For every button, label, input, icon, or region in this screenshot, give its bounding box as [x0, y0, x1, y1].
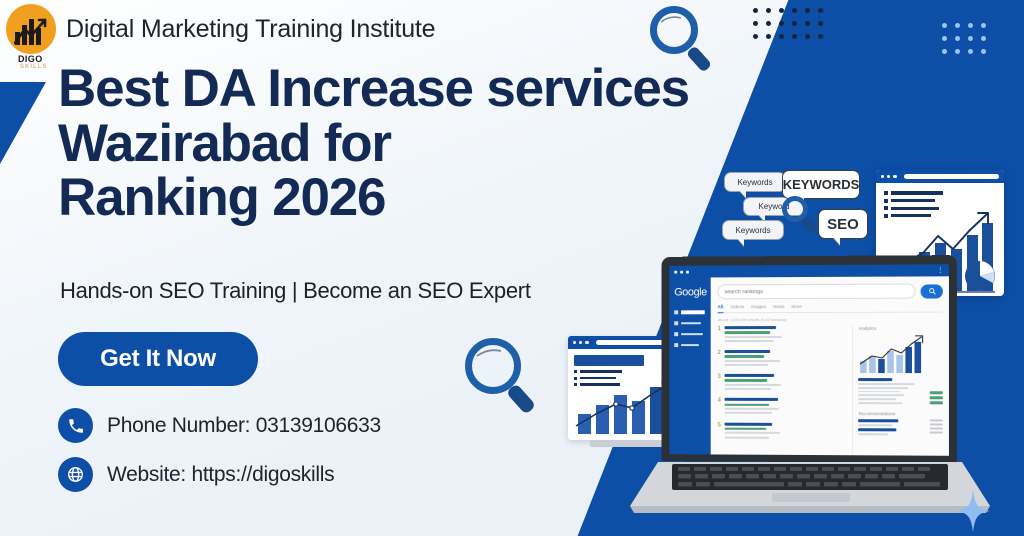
list-item[interactable]: 3: [718, 374, 847, 392]
browser-window-icon: [876, 170, 1004, 183]
tab-more[interactable]: More: [791, 304, 801, 309]
trend-arrow-icon: [14, 16, 48, 46]
magnifying-glass-icon: [465, 338, 553, 422]
keyword-bubble-large: KEYWORDS: [782, 170, 860, 199]
bar-chart-logo-icon: [14, 15, 48, 45]
tab-videos[interactable]: Videos: [730, 304, 744, 309]
analytics-panel: Analytics: [853, 326, 943, 456]
phone-icon: [58, 408, 93, 443]
brand-logo: DIGO SKILLS: [6, 4, 56, 54]
dot-grid-light: [942, 23, 986, 54]
search-tabs: All Videos Images News More: [718, 304, 943, 314]
monitor-title-bar: [574, 355, 644, 366]
contact-phone[interactable]: Phone Number: 03139106633: [58, 408, 381, 443]
search-results-area: search rankings All Videos Images: [711, 276, 949, 455]
phone-number-text: Phone Number: 03139106633: [107, 414, 381, 438]
list-item[interactable]: 4: [718, 398, 847, 416]
pie-chart-icon: [960, 256, 1000, 296]
headline-line-1: Best DA Increase services: [58, 62, 689, 117]
tab-news[interactable]: News: [773, 304, 784, 309]
list-item[interactable]: 2: [718, 350, 847, 368]
contact-website[interactable]: Website: https://digoskills: [58, 457, 334, 492]
results-meta: About 1,240,000 results (0.42 seconds): [718, 317, 943, 323]
dot-grid-dark: [753, 8, 823, 39]
bar-chart-icon: [859, 334, 928, 374]
magnifying-glass-icon: [782, 196, 824, 236]
analytics-panel-title: Analytics: [859, 326, 943, 331]
laptop-base: [630, 462, 990, 514]
page-title: Best DA Increase services Wazirabad for …: [58, 62, 689, 226]
sidebar-item-0[interactable]: [674, 310, 706, 314]
result-number: 4: [718, 398, 721, 416]
list-item[interactable]: 1: [718, 326, 847, 344]
brand-name: Digital Marketing Training Institute: [66, 15, 435, 44]
laptop-screen: ⋮ Google search rankings: [669, 264, 949, 456]
sidebar-item-2[interactable]: [674, 332, 706, 336]
sidebar-item-1[interactable]: [674, 321, 706, 325]
marketing-banner: DIGO SKILLS Digital Marketing Training I…: [0, 0, 1024, 536]
sparkle-icon: [955, 489, 991, 533]
headline-line-3: Ranking 2026: [58, 171, 689, 226]
recommendations-title: Recommendations: [859, 411, 943, 416]
monitor-stand: [590, 440, 664, 447]
globe-icon: [58, 457, 93, 492]
website-url-text: Website: https://digoskills: [107, 463, 334, 487]
headline-line-2: Wazirabad for: [58, 117, 689, 172]
get-it-now-button[interactable]: Get It Now: [58, 332, 258, 386]
search-row: search rankings: [718, 283, 943, 299]
list-item[interactable]: 5: [718, 422, 847, 441]
logo-wordmark: DIGO: [18, 54, 43, 64]
seo-bubble: SEO: [818, 209, 868, 239]
brand-header: DIGO SKILLS Digital Marketing Training I…: [6, 4, 435, 54]
laptop-lid: ⋮ Google search rankings: [661, 255, 957, 463]
result-number: 1: [718, 326, 721, 344]
tab-all[interactable]: All: [718, 304, 724, 313]
search-icon[interactable]: [921, 284, 943, 298]
result-number: 3: [718, 374, 721, 392]
google-logo: Google: [674, 286, 706, 298]
result-number: 5: [718, 422, 721, 440]
subheadline: Hands-on SEO Training | Become an SEO Ex…: [60, 278, 531, 304]
logo-subtext: SKILLS: [20, 64, 47, 70]
results-list: 1 2 3: [718, 326, 847, 455]
search-input[interactable]: search rankings: [718, 284, 916, 300]
keyword-bubble-small-3: Keywords: [722, 220, 784, 240]
sidebar-item-3[interactable]: [674, 343, 706, 347]
keyword-bubble-small-1: Keywords: [724, 172, 786, 192]
kebab-menu-icon[interactable]: ⋮: [937, 267, 944, 274]
laptop-mockup: ⋮ Google search rankings: [660, 256, 966, 462]
blue-corner-accent: [0, 82, 46, 164]
tab-images[interactable]: Images: [751, 304, 766, 309]
result-number: 2: [718, 350, 721, 368]
google-sidebar: Google: [669, 277, 710, 454]
